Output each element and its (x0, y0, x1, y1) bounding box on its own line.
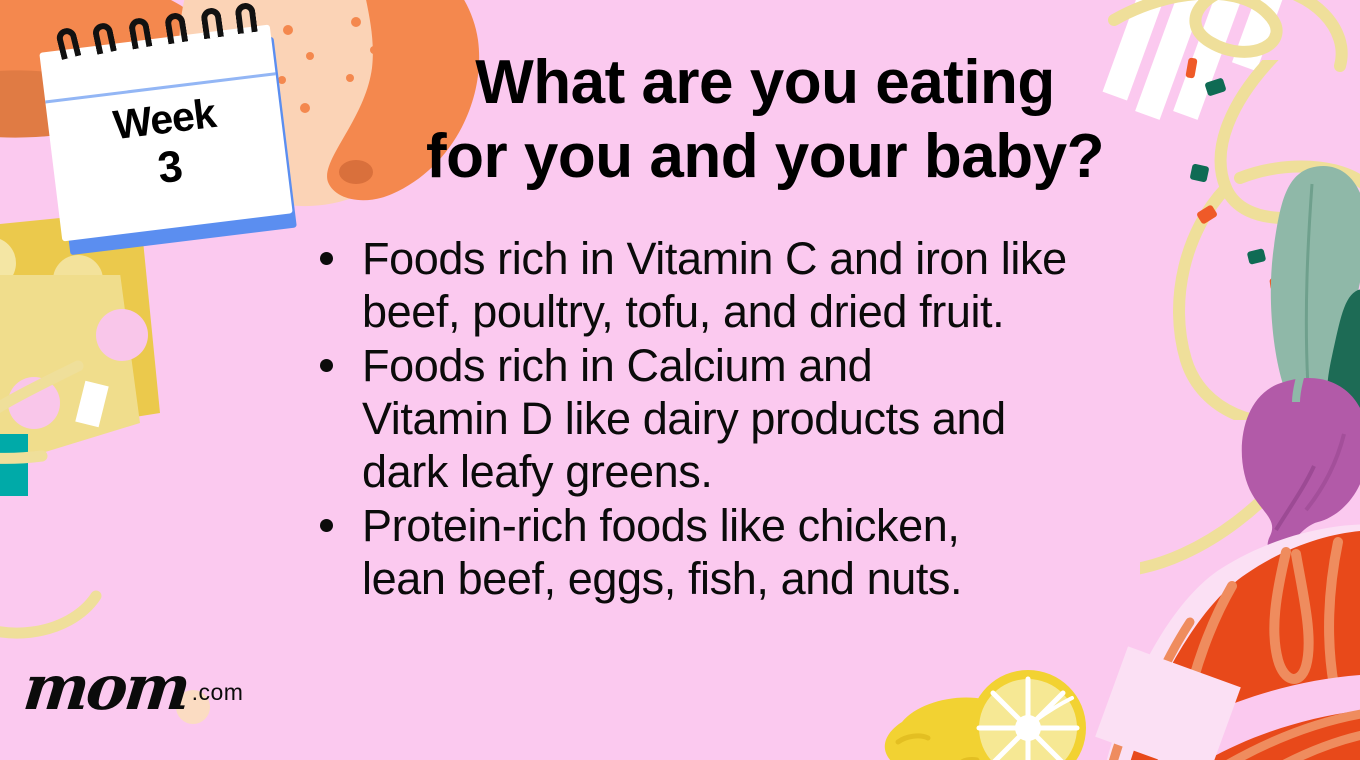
list-item-line: dark leafy greens. (362, 445, 1252, 498)
list-item-text: Foods rich in Vitamin C and iron like be… (362, 232, 1252, 338)
calendar-spiral-3-icon (128, 16, 153, 49)
calendar-text-group: Week 3 (46, 82, 288, 208)
slide-canvas: Week 3 What are you eating for you and y… (0, 0, 1360, 760)
mom-dot-com-logo[interactable]: mom .com (24, 660, 243, 716)
list-item-line: beef, poultry, tofu, and dried fruit. (362, 285, 1252, 338)
headline-line-2: for you and your baby? (300, 120, 1230, 194)
list-item-line: lean beef, eggs, fish, and nuts. (362, 552, 1252, 605)
bullet-list: Foods rich in Vitamin C and iron like be… (312, 232, 1252, 606)
list-item-text: Protein-rich foods like chicken, lean be… (362, 499, 1252, 605)
list-item-text: Foods rich in Calcium and Vitamin D like… (362, 339, 1252, 498)
bullet-marker-icon (320, 519, 333, 532)
list-item: Foods rich in Vitamin C and iron like be… (312, 232, 1252, 338)
calendar-page: Week 3 (39, 25, 292, 242)
page-title: What are you eating for you and your bab… (300, 46, 1230, 194)
list-item: Protein-rich foods like chicken, lean be… (312, 499, 1252, 605)
calendar-week-badge: Week 3 (36, 22, 294, 242)
logo-tld: .com (192, 679, 244, 706)
lemon-half-icon (966, 666, 1096, 760)
list-item-line: Foods rich in Calcium and (362, 339, 1252, 392)
bullet-marker-icon (320, 252, 333, 265)
list-item: Foods rich in Calcium and Vitamin D like… (312, 339, 1252, 498)
bullet-marker-icon (320, 359, 333, 372)
list-item-line: Protein-rich foods like chicken, (362, 499, 1252, 552)
list-item-line: Foods rich in Vitamin C and iron like (362, 232, 1252, 285)
list-item-line: Vitamin D like dairy products and (362, 392, 1252, 445)
headline-line-1: What are you eating (300, 46, 1230, 120)
logo-wordmark: mom (21, 660, 190, 716)
yellow-loop-left-icon (0, 360, 180, 660)
